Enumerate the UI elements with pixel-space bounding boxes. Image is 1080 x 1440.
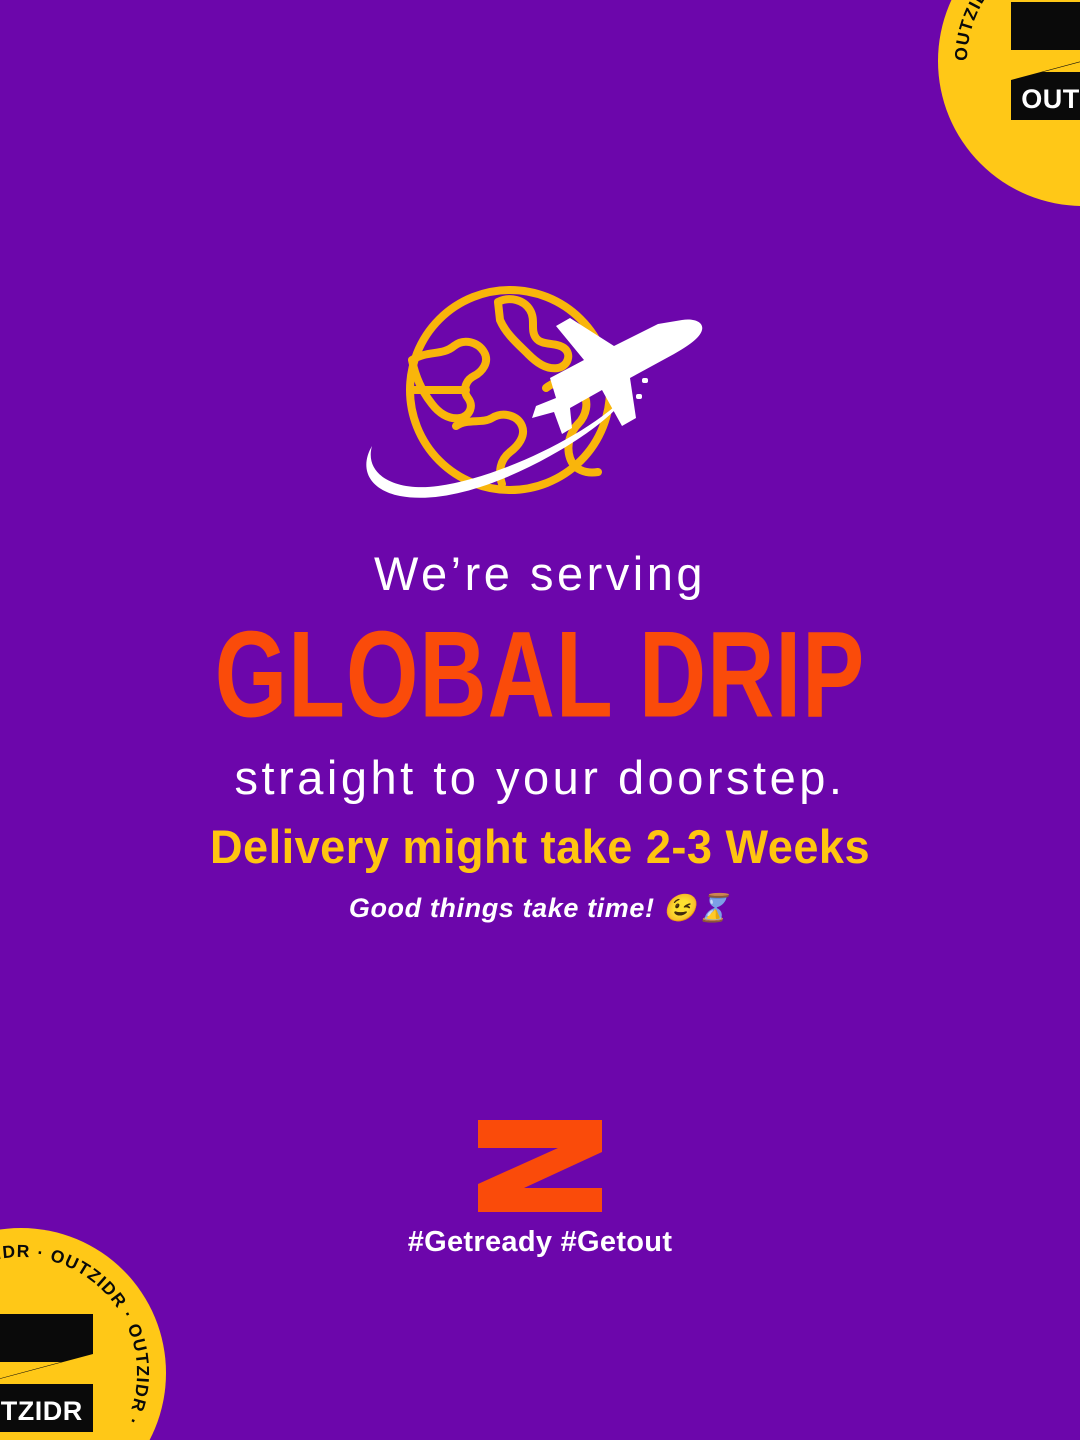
z-mark-shape xyxy=(478,1120,602,1212)
airplane-icon xyxy=(532,318,702,434)
headline-eyebrow: We’re serving xyxy=(0,548,1080,600)
headline-block: We’re serving GLOBAL DRIP straight to yo… xyxy=(0,548,1080,803)
outzidr-badge-bottom-left: OUTZIDR · OUTZIDR · OUTZIDR · OUTZIDR · … xyxy=(0,1228,166,1440)
badge-inner-logo: OUTZIDR xyxy=(999,0,1080,124)
brand-z-logo xyxy=(478,1120,602,1212)
page-title: GLOBAL DRIP xyxy=(16,614,1064,737)
promo-poster: OUTZIDR · OUTZIDR · OUTZIDR · OUTZIDR · … xyxy=(0,0,1080,1440)
outzidr-badge-top-right: OUTZIDR · OUTZIDR · OUTZIDR · OUTZIDR · … xyxy=(938,0,1080,206)
footer-block: #Getready #Getout xyxy=(0,1120,1080,1259)
badge-inner-logo: OUTZIDR xyxy=(0,1310,105,1436)
headline-subline: straight to your doorstep. xyxy=(0,752,1080,804)
footer-hashtags: #Getready #Getout xyxy=(0,1226,1080,1259)
delivery-notice: Delivery might take 2-3 Weeks xyxy=(22,820,1059,874)
delivery-notice-block: Delivery might take 2-3 Weeks Good thing… xyxy=(0,820,1080,924)
globe-airplane-illustration xyxy=(350,268,730,518)
badge-wordmark: OUTZIDR xyxy=(0,1396,83,1426)
badge-wordmark: OUTZIDR xyxy=(1021,84,1080,114)
delivery-reassurance: Good things take time! 😉⌛ xyxy=(0,892,1080,924)
